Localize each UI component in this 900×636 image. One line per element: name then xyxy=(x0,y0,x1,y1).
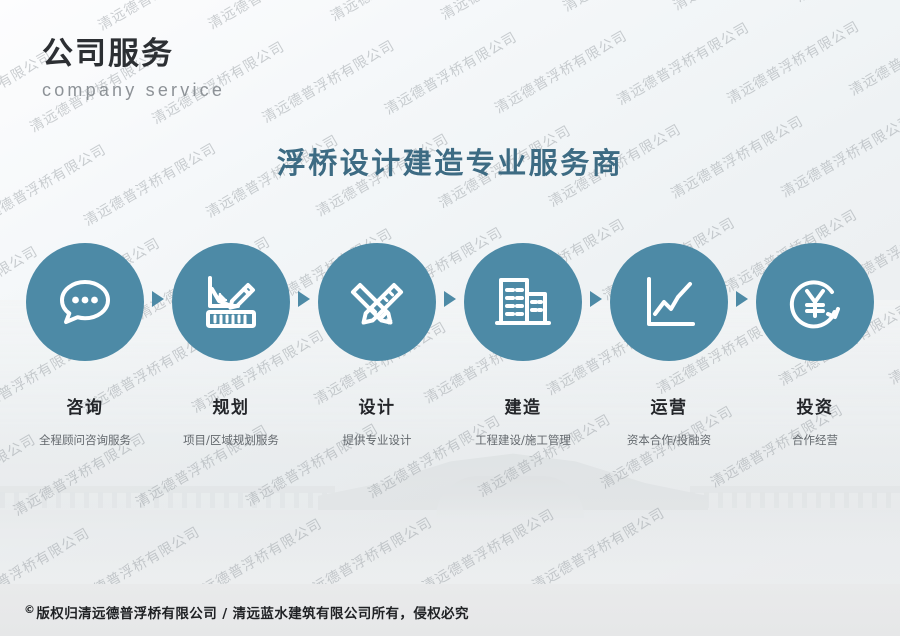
step-title: 设计 xyxy=(359,393,396,418)
watermark-text: 清远德普浮桥有限公司 xyxy=(669,0,809,15)
copyright-notice: © 版权归清远德普浮桥有限公司 / 清远蓝水建筑有限公司所有，侵权必究 xyxy=(24,602,469,622)
step-icon-circle-2[interactable] xyxy=(172,243,290,361)
watermark-text: 清远德普浮桥有限公司 xyxy=(559,0,699,16)
step-title: 运营 xyxy=(651,393,688,418)
watermark-text: 清远德普浮桥有限公司 xyxy=(437,0,577,24)
page-title-en: company service xyxy=(42,80,225,101)
watermark-text: 清远德普浮桥有限公司 xyxy=(258,35,398,127)
process-step-4[interactable]: 建造工程建设/施工管理 xyxy=(462,243,584,448)
step-description: 合作经营 xyxy=(792,432,838,448)
copyright-icon: © xyxy=(24,603,35,616)
process-step-5[interactable]: 运营资本合作/投融资 xyxy=(608,243,730,448)
triangle-right-icon xyxy=(298,291,310,307)
process-step-3[interactable]: 设计提供专业设计 xyxy=(316,243,438,448)
watermark-text: 清远德普浮桥有限公司 xyxy=(791,0,900,7)
step-icon-circle-6[interactable] xyxy=(756,243,874,361)
process-arrow-4 xyxy=(584,291,608,307)
crossed-pencil-ruler-icon xyxy=(345,270,409,334)
step-icon-circle-4[interactable] xyxy=(464,243,582,361)
watermark-text: 清远德普浮桥有限公司 xyxy=(204,0,344,34)
step-description: 资本合作/投融资 xyxy=(627,432,711,448)
process-arrow-5 xyxy=(730,291,754,307)
step-icon-circle-1[interactable] xyxy=(26,243,144,361)
speech-bubble-dots-icon xyxy=(53,270,117,334)
step-description: 工程建设/施工管理 xyxy=(475,432,571,448)
triangle-right-icon xyxy=(444,291,456,307)
step-title: 投资 xyxy=(797,393,834,418)
step-description: 全程顾问咨询服务 xyxy=(39,432,131,448)
step-icon-circle-5[interactable] xyxy=(610,243,728,361)
triangle-right-icon xyxy=(152,291,164,307)
slide-canvas: 清远德普浮桥有限公司清远德普浮桥有限公司清远德普浮桥有限公司清远德普浮桥有限公司… xyxy=(0,0,900,636)
triangle-right-icon xyxy=(590,291,602,307)
process-step-1[interactable]: 咨询全程顾问咨询服务 xyxy=(24,243,146,448)
step-description: 项目/区域规划服务 xyxy=(183,432,279,448)
process-step-2[interactable]: 规划项目/区域规划服务 xyxy=(170,243,292,448)
ruler-pencil-angle-icon xyxy=(199,270,263,334)
line-chart-up-icon xyxy=(637,270,701,334)
watermark-text: 清远德普浮桥有限公司 xyxy=(845,8,900,100)
watermark-text: 清远德普浮桥有限公司 xyxy=(491,26,631,118)
headline: 浮桥设计建造专业服务商 xyxy=(0,140,900,182)
triangle-right-icon xyxy=(736,291,748,307)
watermark-text: 清远德普浮桥有限公司 xyxy=(613,17,753,109)
process-step-6[interactable]: 投资合作经营 xyxy=(754,243,876,448)
page-header: 公司服务 company service xyxy=(42,28,225,101)
copyright-text: 版权归清远德普浮桥有限公司 / 清远蓝水建筑有限公司所有，侵权必究 xyxy=(36,602,469,622)
step-title: 咨询 xyxy=(67,393,104,418)
buildings-icon xyxy=(491,270,555,334)
watermark-text: 清远德普浮桥有限公司 xyxy=(327,0,467,26)
process-arrow-1 xyxy=(146,291,170,307)
step-description: 提供专业设计 xyxy=(343,432,412,448)
process-arrow-2 xyxy=(292,291,316,307)
yuan-refresh-icon xyxy=(783,270,847,334)
watermark-text: 清远德普浮桥有限公司 xyxy=(723,16,863,108)
process-flow: 咨询全程顾问咨询服务 规划项目/区域规划服务 设计提供专业设计 xyxy=(0,243,900,448)
page-title-cn: 公司服务 xyxy=(42,28,225,73)
watermark-text: 清远德普浮桥有限公司 xyxy=(381,27,521,119)
step-title: 规划 xyxy=(213,393,250,418)
process-arrow-3 xyxy=(438,291,462,307)
step-icon-circle-3[interactable] xyxy=(318,243,436,361)
step-title: 建造 xyxy=(505,393,542,418)
